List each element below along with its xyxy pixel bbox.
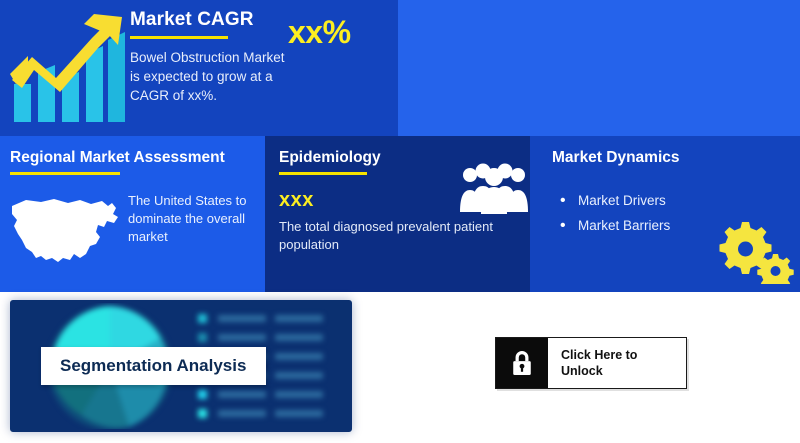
dynamics-bullet-item: Market Drivers — [556, 188, 670, 213]
legend-item — [198, 328, 348, 347]
unlock-label-line1: Click Here to — [561, 348, 637, 362]
epidemiology-description: The total diagnosed prevalent patient po… — [279, 218, 509, 254]
cagr-percent-value: xx% — [288, 14, 351, 51]
lock-icon — [510, 349, 534, 377]
cagr-title: Market CAGR — [130, 8, 290, 32]
legend-color-swatch — [198, 333, 207, 342]
segmentation-label: Segmentation Analysis — [41, 347, 266, 385]
regional-title: Regional Market Assessment — [10, 148, 225, 168]
market-cagr-panel: Market CAGR Bowel Obstruction Market is … — [0, 0, 398, 136]
dynamics-bullet-list: Market Drivers Market Barriers — [556, 188, 670, 238]
epidemiology-value: xxx — [279, 189, 314, 212]
regional-market-panel: Regional Market Assessment The United St… — [0, 136, 265, 292]
segmentation-analysis-card[interactable]: Segmentation Analysis — [10, 300, 352, 432]
top-row: Market CAGR Bowel Obstruction Market is … — [0, 0, 800, 136]
us-map-icon — [8, 190, 123, 268]
epidemiology-header: Epidemiology — [279, 148, 381, 184]
legend-label-2 — [275, 353, 323, 360]
infographic-page: Market CAGR Bowel Obstruction Market is … — [0, 0, 800, 443]
epidemiology-panel: Epidemiology xxx The total diagnosed pre… — [265, 136, 530, 292]
dynamics-bullet-item: Market Barriers — [556, 213, 670, 238]
legend-color-swatch — [198, 390, 207, 399]
epidemiology-underline — [279, 172, 367, 175]
regional-description: The United States to dominate the overal… — [128, 192, 256, 246]
dynamics-title: Market Dynamics — [552, 148, 680, 168]
epidemiology-title: Epidemiology — [279, 148, 381, 168]
market-dynamics-panel: Market Dynamics Market Drivers Market Ba… — [530, 136, 800, 292]
legend-label-2 — [275, 334, 323, 341]
legend-label-1 — [218, 315, 266, 322]
regional-header: Regional Market Assessment — [10, 148, 225, 184]
middle-row: Regional Market Assessment The United St… — [0, 136, 800, 292]
legend-color-swatch — [198, 409, 207, 418]
market-size-panel: 2021 2032 Market Size USD ~xxx Million i… — [398, 0, 800, 136]
legend-label-2 — [275, 315, 323, 322]
unlock-button-label: Click Here to Unlock — [548, 338, 686, 388]
cagr-text-block: Market CAGR Bowel Obstruction Market is … — [130, 8, 290, 105]
cagr-title-underline — [130, 36, 228, 39]
legend-item — [198, 404, 348, 423]
unlock-label-line2: Unlock — [561, 364, 603, 378]
legend-item — [198, 309, 348, 328]
segmentation-label-overlay: Segmentation Analysis — [41, 347, 266, 385]
legend-color-swatch — [198, 314, 207, 323]
legend-label-2 — [275, 372, 323, 379]
gears-icon — [712, 214, 794, 284]
legend-label-2 — [275, 410, 323, 417]
cagr-description: Bowel Obstruction Market is expected to … — [130, 48, 290, 105]
regional-underline — [10, 172, 120, 175]
growth-arrow-bar-chart-icon — [8, 12, 126, 122]
legend-item — [198, 385, 348, 404]
dynamics-header: Market Dynamics — [552, 148, 680, 168]
legend-label-1 — [218, 334, 266, 341]
legend-label-2 — [275, 391, 323, 398]
people-group-icon — [458, 162, 530, 214]
legend-label-1 — [218, 410, 266, 417]
lock-icon-box — [496, 338, 548, 388]
click-here-to-unlock-button[interactable]: Click Here to Unlock — [495, 337, 687, 389]
legend-label-1 — [218, 391, 266, 398]
